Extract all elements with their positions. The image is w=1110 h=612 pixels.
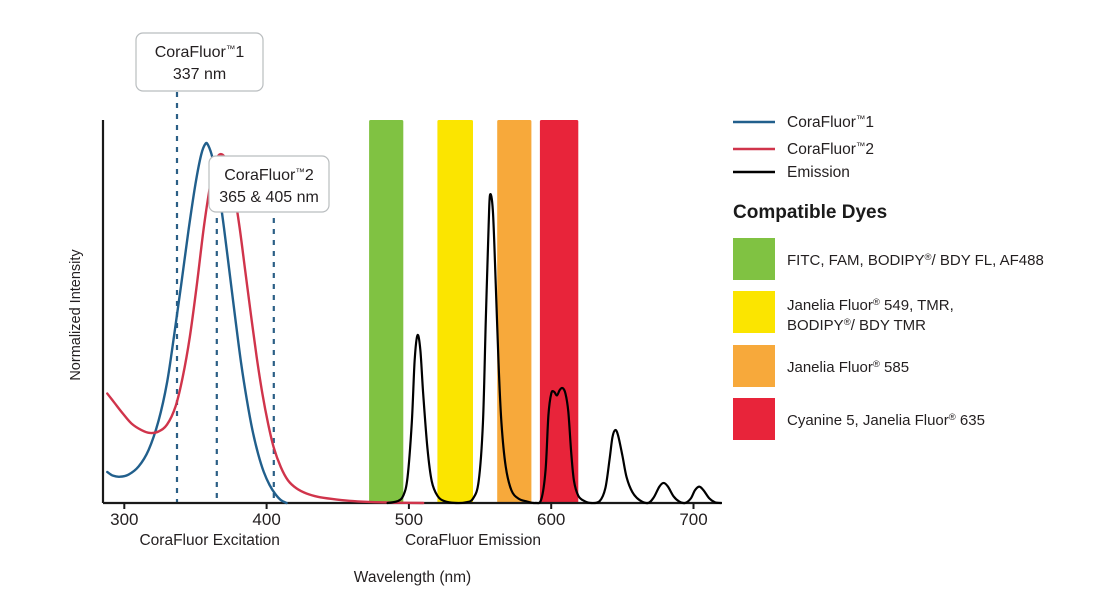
callouts-layer: CoraFluor™1337 nmCoraFluor™2365 & 405 nm [136, 33, 329, 212]
red-band [540, 120, 578, 503]
axis-group-label-excitation: CoraFluor Excitation [139, 532, 279, 549]
dye-label-2-0: Janelia Fluor® 585 [787, 359, 909, 377]
callout-corafluor1-value: 337 nm [173, 66, 226, 83]
dye-swatch-1 [733, 291, 775, 333]
legend-label-2: Emission [787, 164, 850, 181]
compatible-dyes-heading: Compatible Dyes [733, 202, 887, 223]
x-axis-title: Wavelength (nm) [354, 569, 471, 586]
legend-label-0: CoraFluor™1 [787, 114, 874, 132]
y-axis-title: Normalized Intensity [68, 249, 84, 381]
x-tick-label-400: 400 [252, 510, 280, 529]
dye-swatch-2 [733, 345, 775, 387]
green-band [369, 120, 403, 503]
x-tick-label-600: 600 [537, 510, 565, 529]
x-tick-label-500: 500 [395, 510, 423, 529]
legend-label-1: CoraFluor™2 [787, 141, 874, 159]
dye-label-3-0: Cyanine 5, Janelia Fluor® 635 [787, 412, 985, 430]
yellow-band [437, 120, 473, 503]
excitation-guide-lines-layer [177, 92, 274, 503]
x-tick-label-300: 300 [110, 510, 138, 529]
dye-swatch-0 [733, 238, 775, 280]
callout-corafluor2-value: 365 & 405 nm [219, 189, 319, 206]
x-tick-label-700: 700 [679, 510, 707, 529]
dye-swatch-3 [733, 398, 775, 440]
legend-layer: CoraFluor™1CoraFluor™2EmissionCompatible… [733, 114, 1044, 441]
dye-label-0-0: FITC, FAM, BODIPY®/ BDY FL, AF488 [787, 252, 1044, 270]
spectra-curves-layer [107, 143, 720, 503]
dye-label-1-0: Janelia Fluor® 549, TMR, [787, 297, 954, 315]
axis-group-label-emission: CoraFluor Emission [405, 532, 541, 549]
spectra-figure: 300400500600700 CoraFluor™1337 nmCoraFlu… [0, 0, 1110, 612]
dye-label-1-1: BODIPY®/ BDY TMR [787, 317, 926, 335]
